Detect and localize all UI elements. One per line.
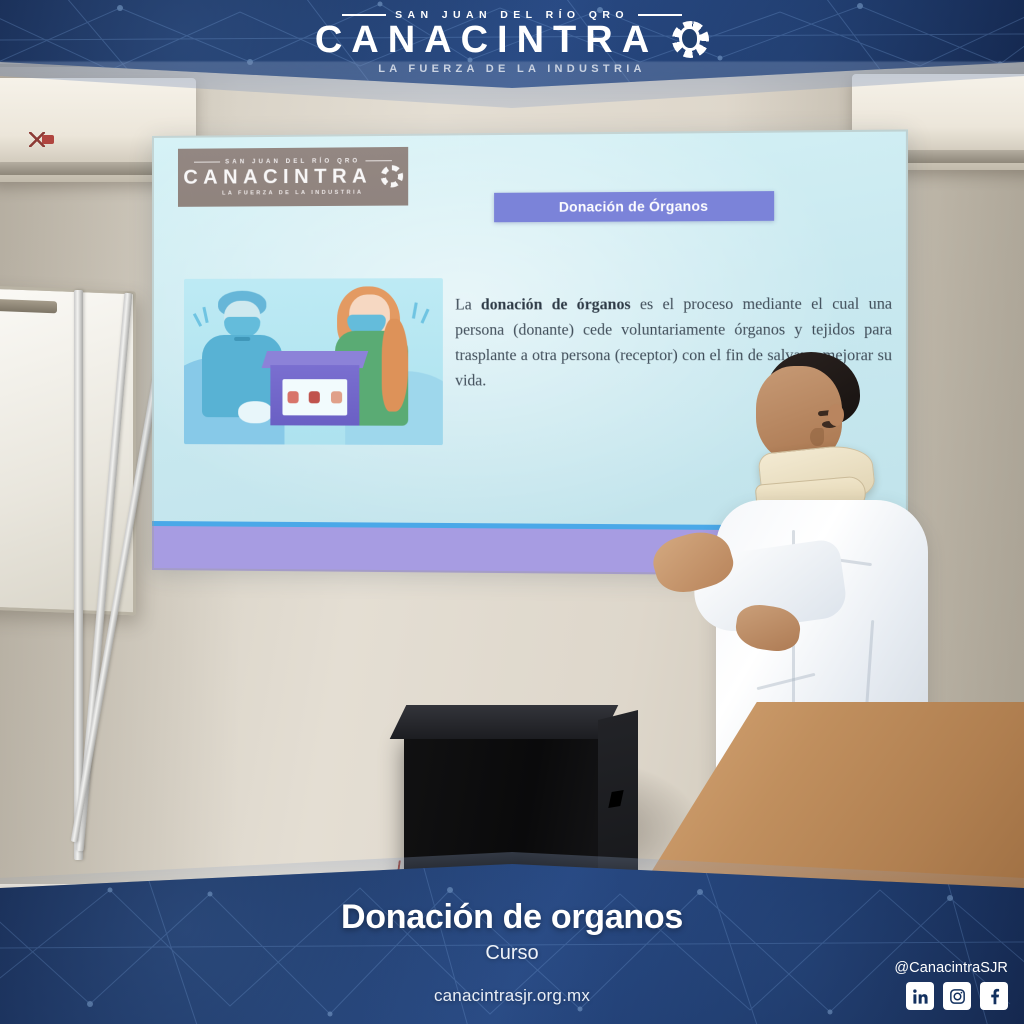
canacintra-gear-icon	[672, 21, 709, 58]
post-subtitle: Curso	[0, 942, 1024, 965]
header-tagline: LA FUERZA DE LA INDUSTRIA	[378, 63, 646, 75]
footer-banner: Donación de organos Curso canacintrasjr.…	[0, 864, 1024, 1024]
website-url[interactable]: canacintrasjr.org.mx	[0, 986, 1024, 1006]
facebook-icon[interactable]	[980, 982, 1008, 1010]
presenter-ear	[828, 404, 844, 426]
social-handle: @CanacintraSJR	[894, 960, 1008, 976]
linkedin-icon[interactable]	[906, 982, 934, 1010]
header-brand: CANACINTRA	[315, 20, 658, 61]
instagram-icon[interactable]	[943, 982, 971, 1010]
social-media-post: SAN JUAN DEL RÍO QRO CANACINTRA LA FUERZ…	[0, 0, 1024, 1024]
social-block: @CanacintraSJR	[894, 960, 1008, 1010]
canacintra-logo: SAN JUAN DEL RÍO QRO CANACINTRA LA FUERZ…	[0, 9, 1024, 75]
post-title: Donación de organos	[0, 898, 1024, 937]
